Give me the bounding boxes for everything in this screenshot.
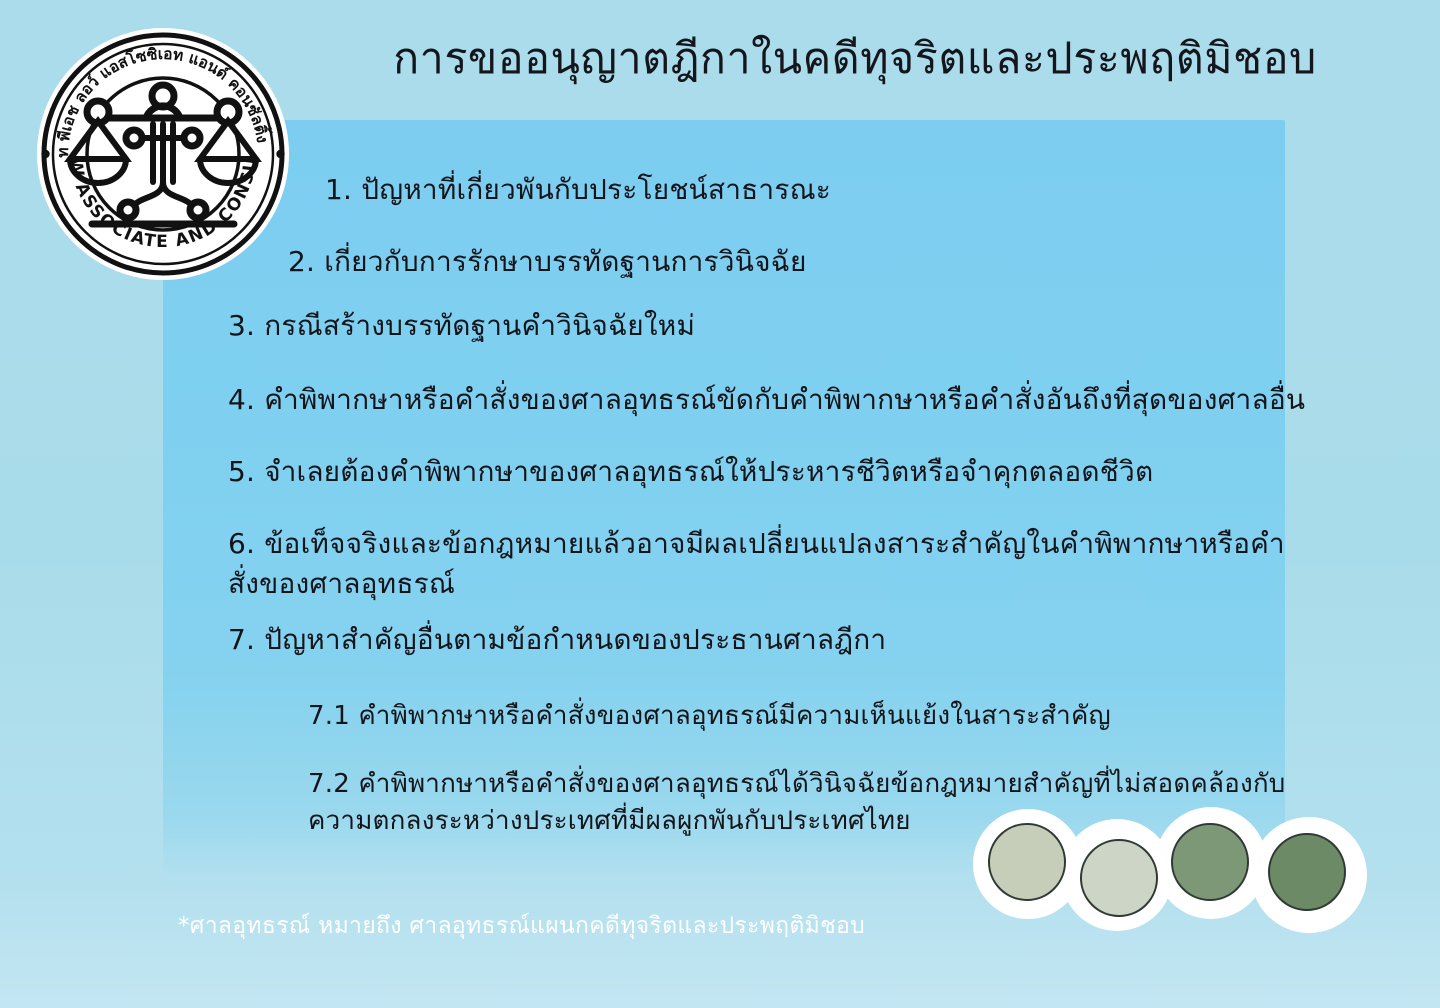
company-logo: บริษัท พีเอช ลอว์ แอสโซซิเอท แอนด์ คอนซั… [34, 14, 292, 286]
list-item-5: 5. จำเลยต้องคำพิพากษาของศาลอุทธรณ์ให้ประ… [228, 452, 1308, 492]
color-swatch-cluster [963, 801, 1383, 929]
poster-canvas: บริษัท พีเอช ลอว์ แอสโซซิเอท แอนด์ คอนซั… [0, 0, 1440, 1008]
swatch-pale-sage [988, 823, 1066, 901]
list-item-7-1: 7.1 คำพิพากษาหรือคำสั่งของศาลอุทธรณ์มีคว… [308, 698, 1308, 735]
list-item-4: 4. คำพิพากษาหรือคำสั่งของศาลอุทธรณ์ขัดกั… [228, 380, 1348, 420]
list-item-3: 3. กรณีสร้างบรรทัดฐานคำวินิจฉัยใหม่ [228, 306, 1278, 346]
list-item-6: 6. ข้อเท็จจริงและข้อกฎหมายแล้วอาจมีผลเปล… [228, 524, 1310, 604]
swatch-dark-sage [1268, 833, 1346, 911]
list-item-1: 1. ปัญหาที่เกี่ยวพันกับประโยชน์สาธารณะ [325, 170, 1325, 210]
page-title: การขออนุญาตฎีกาในคดีทุจริตและประพฤติมิชอ… [300, 33, 1410, 85]
swatch-medium-sage [1171, 823, 1249, 901]
list-item-2: 2. เกี่ยวกับการรักษาบรรทัดฐานการวินิจฉัย [288, 242, 1288, 282]
footnote: *ศาลอุทธรณ์ หมายถึง ศาลอุทธรณ์แผนกคดีทุจ… [178, 908, 865, 944]
swatch-light-sage [1080, 839, 1158, 917]
list-item-7: 7. ปัญหาสำคัญอื่นตามข้อกำหนดของประธานศาล… [228, 620, 1228, 660]
